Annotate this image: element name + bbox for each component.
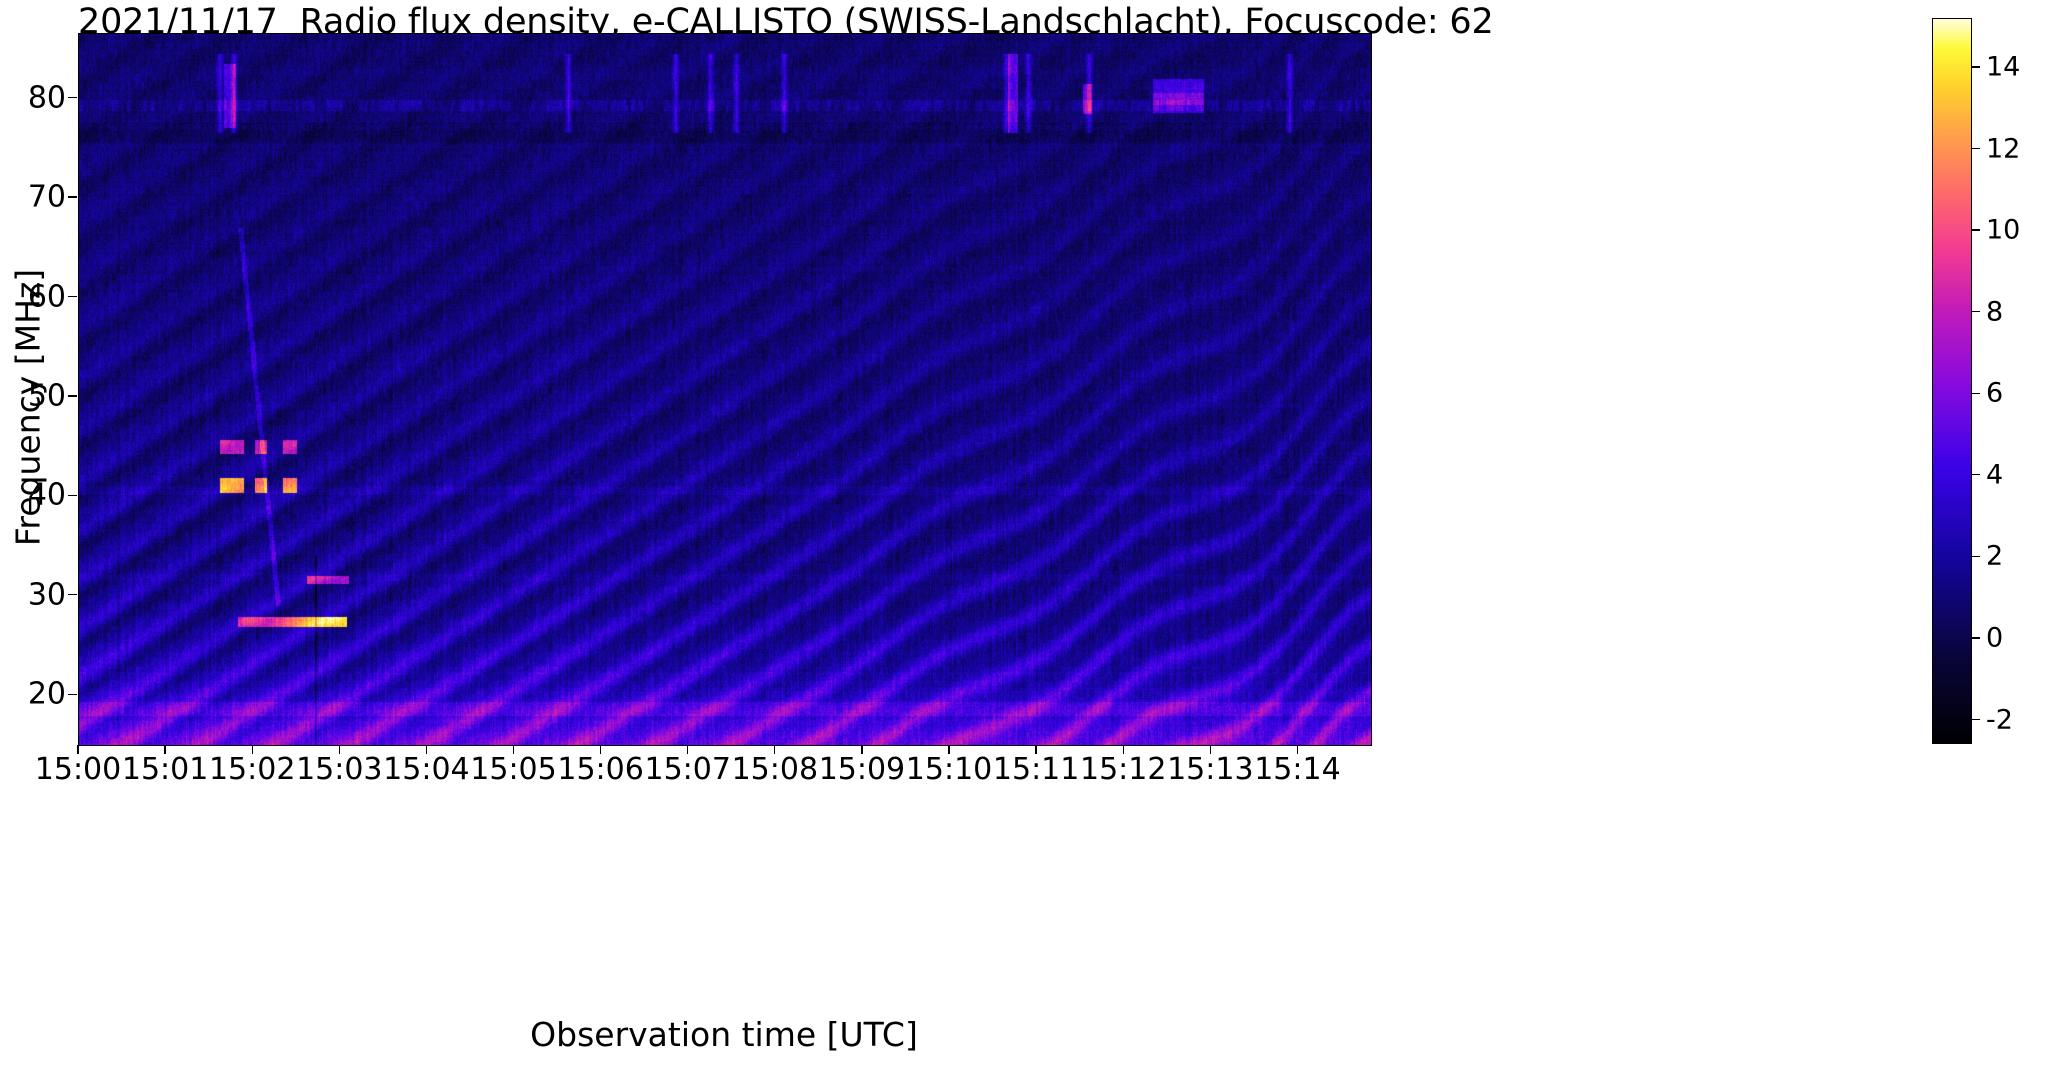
colorbar-tick-label: 14	[1986, 51, 2020, 82]
colorbar-tick-mark	[1972, 474, 1980, 475]
colorbar-tick-label: -2	[1986, 704, 2013, 735]
x-tick-mark	[774, 745, 775, 754]
y-tick-mark	[68, 296, 77, 297]
colorbar-tick-label: 2	[1986, 541, 2003, 572]
x-tick-label: 15:05	[470, 752, 556, 787]
x-tick-mark	[1297, 745, 1298, 754]
colorbar-tick-label: 0	[1986, 622, 2003, 653]
x-tick-label: 15:11	[993, 752, 1079, 787]
x-tick-mark	[164, 745, 165, 754]
x-tick-label: 15:07	[644, 752, 730, 787]
x-tick-mark	[861, 745, 862, 754]
y-tick-mark	[68, 97, 77, 98]
spectrogram-image	[79, 34, 1371, 745]
colorbar-tick-label: 8	[1986, 296, 2003, 327]
colorbar-tick-mark	[1972, 556, 1980, 557]
colorbar-tick-mark	[1972, 637, 1980, 638]
x-tick-mark	[513, 745, 514, 754]
x-axis-title: Observation time [UTC]	[78, 1015, 1370, 1054]
colorbar-tick-mark	[1972, 311, 1980, 312]
spectrogram-axes[interactable]	[78, 33, 1372, 746]
colorbar-gradient	[1932, 18, 1972, 744]
x-tick-label: 15:10	[906, 752, 992, 787]
y-tick-mark	[68, 495, 77, 496]
colorbar-tick-label: 10	[1986, 215, 2020, 246]
figure-canvas: 2021/11/17 Radio flux density, e-CALLIST…	[0, 0, 2047, 1067]
colorbar[interactable]: -202468101214	[1932, 18, 1972, 744]
x-tick-mark	[687, 745, 688, 754]
x-tick-label: 15:06	[557, 752, 643, 787]
colorbar-tick-label: 6	[1986, 378, 2003, 409]
x-tick-label: 15:01	[122, 752, 208, 787]
x-tick-label: 15:09	[819, 752, 905, 787]
x-tick-mark	[426, 745, 427, 754]
y-tick-mark	[68, 196, 77, 197]
colorbar-tick-label: 4	[1986, 459, 2003, 490]
x-tick-mark	[600, 745, 601, 754]
colorbar-tick-mark	[1972, 229, 1980, 230]
x-tick-label: 15:04	[383, 752, 469, 787]
x-tick-label: 15:08	[732, 752, 818, 787]
colorbar-tick-mark	[1972, 393, 1980, 394]
x-tick-label: 15:12	[1080, 752, 1166, 787]
x-tick-mark	[948, 745, 949, 754]
x-tick-label: 15:13	[1167, 752, 1253, 787]
x-tick-label: 15:03	[296, 752, 382, 787]
colorbar-tick-mark	[1972, 66, 1980, 67]
x-tick-mark	[1035, 745, 1036, 754]
y-tick-mark	[68, 594, 77, 595]
colorbar-tick-mark	[1972, 719, 1980, 720]
x-tick-label: 15:02	[209, 752, 295, 787]
x-tick-mark	[1123, 745, 1124, 754]
x-tick-mark	[77, 745, 78, 754]
colorbar-tick-label: 12	[1986, 133, 2020, 164]
y-axis-title: Frequency [MHz]	[9, 28, 48, 788]
colorbar-tick-mark	[1972, 148, 1980, 149]
x-tick-label: 15:14	[1254, 752, 1340, 787]
x-tick-mark	[252, 745, 253, 754]
y-tick-mark	[68, 395, 77, 396]
x-tick-mark	[1210, 745, 1211, 754]
y-tick-mark	[68, 694, 77, 695]
x-tick-mark	[339, 745, 340, 754]
x-tick-label: 15:00	[35, 752, 121, 787]
